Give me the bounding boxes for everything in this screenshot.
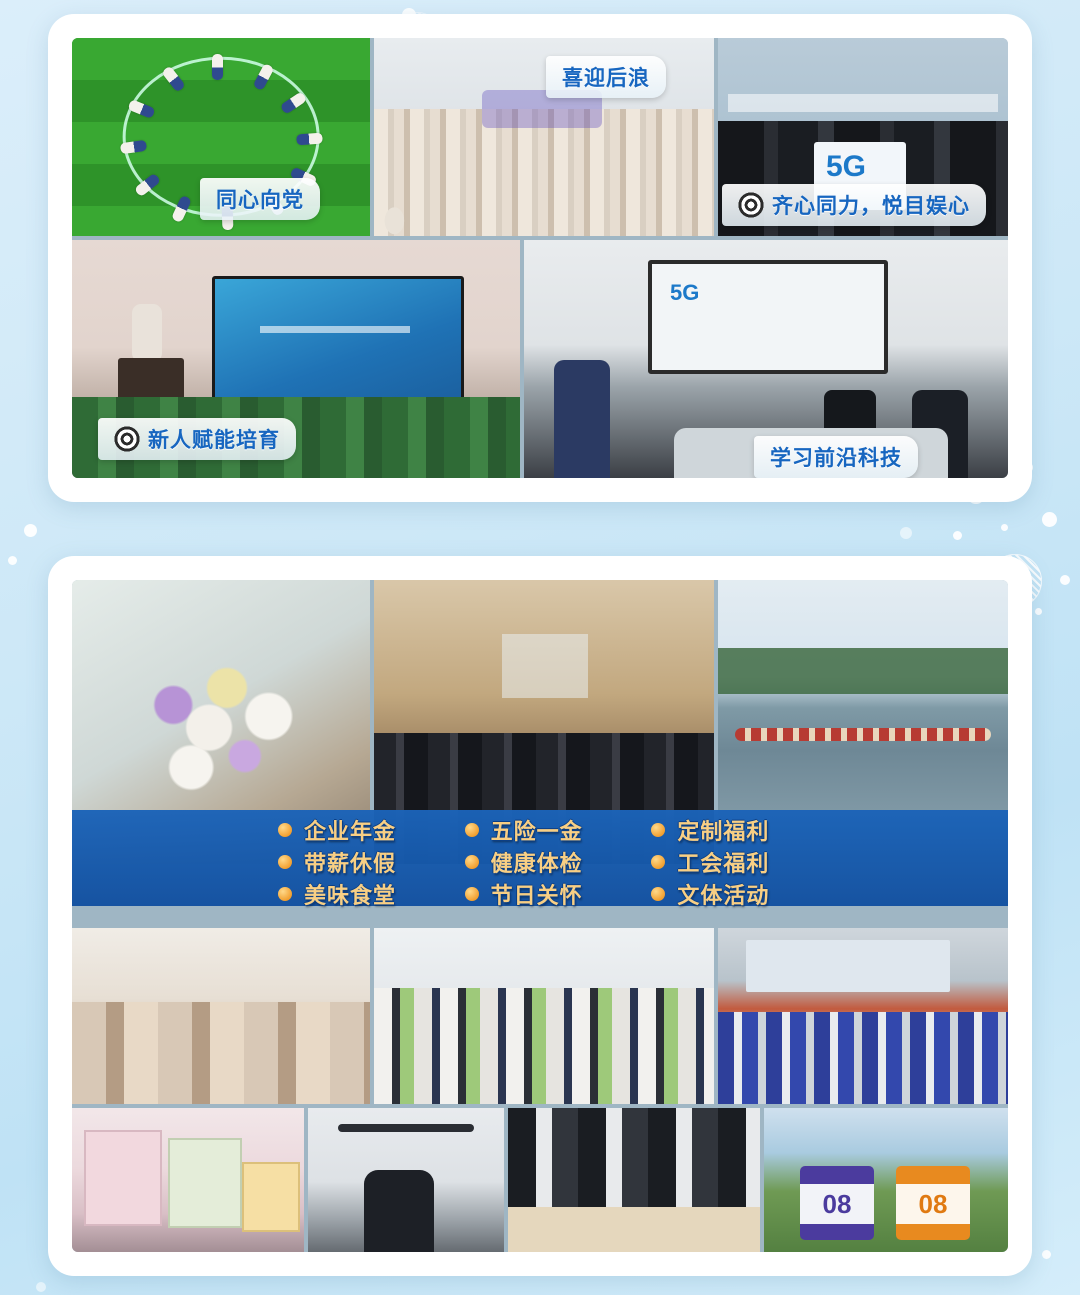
benefit-label: 健康体检 — [491, 846, 583, 878]
bullet-dot-icon — [465, 887, 479, 901]
decor-dot — [1042, 1250, 1051, 1259]
benefit-item[interactable]: 节日关怀 — [465, 878, 652, 910]
bullet-dot-icon — [651, 823, 665, 837]
decor-dot — [24, 524, 37, 537]
photo-party-formation[interactable]: 同心向党 — [72, 38, 370, 236]
bullet-dot-icon — [278, 823, 292, 837]
benefits-section-card: 08 08 — [48, 556, 1032, 1276]
caption-tech-study-meeting: 学习前沿科技 — [754, 436, 918, 478]
caption-new-employee-group: 喜迎后浪 — [546, 56, 666, 98]
photo-desk-calendar[interactable]: 08 08 — [764, 1108, 1008, 1252]
benefits-photo-grid: 08 08 — [72, 580, 1008, 1252]
photo-team-cheer[interactable]: 5G 齐心同力，悦目娱心 — [718, 38, 1008, 236]
caption-onboarding-training: 新人赋能培育 — [98, 418, 296, 460]
benefits-list: 企业年金 五险一金 定制福利 带薪休假 健康体检 工会福利 美味食堂 节日关怀 … — [278, 814, 838, 904]
benefit-item[interactable]: 五险一金 — [465, 814, 652, 846]
photo-gym-workout[interactable] — [308, 1108, 504, 1252]
photo-new-employee-group[interactable]: 喜迎后浪 — [374, 38, 714, 236]
dragon-boat — [735, 728, 990, 741]
decor-dot — [900, 527, 912, 539]
benefit-item[interactable]: 企业年金 — [278, 814, 465, 846]
benefit-label: 定制福利 — [677, 814, 769, 846]
caption-label: 学习前沿科技 — [770, 442, 902, 472]
benefit-label: 带薪休假 — [304, 846, 396, 878]
target-icon — [738, 192, 764, 218]
crowd-area — [374, 109, 714, 236]
benefit-label: 工会福利 — [677, 846, 769, 878]
bullet-dot-icon — [651, 887, 665, 901]
talent-section-title: 丰富完善的人才培养体系 — [196, 222, 900, 312]
photo-sports-team-photo[interactable] — [374, 928, 714, 1104]
bullet-dot-icon — [651, 855, 665, 869]
benefit-item[interactable]: 美味食堂 — [278, 878, 465, 910]
target-icon — [114, 426, 140, 452]
caption-label: 齐心同力，悦目娱心 — [772, 190, 970, 220]
photo-food-party[interactable] — [508, 1108, 760, 1252]
decor-dot — [953, 531, 962, 540]
photo-library-lounge[interactable] — [72, 928, 370, 1104]
benefit-item[interactable]: 定制福利 — [651, 814, 838, 846]
benefit-label: 美味食堂 — [304, 878, 396, 910]
caption-label: 新人赋能培育 — [148, 424, 280, 454]
decor-dot — [36, 1282, 46, 1292]
decor-dot — [1001, 524, 1008, 531]
caption-team-cheer: 齐心同力，悦目娱心 — [722, 184, 986, 226]
benefit-label: 节日关怀 — [491, 878, 583, 910]
benefit-label: 文体活动 — [677, 878, 769, 910]
caption-party-formation: 同心向党 — [200, 178, 320, 220]
caption-label: 喜迎后浪 — [562, 62, 650, 92]
benefit-item[interactable]: 工会福利 — [651, 846, 838, 878]
bullet-dot-icon — [465, 823, 479, 837]
bullet-dot-icon — [278, 855, 292, 869]
benefit-item[interactable]: 带薪休假 — [278, 846, 465, 878]
photo-holiday-gift-boxes[interactable] — [72, 1108, 304, 1252]
benefit-label: 五险一金 — [491, 814, 583, 846]
decor-dot — [1042, 512, 1057, 527]
decor-dot — [1035, 608, 1042, 615]
benefit-item[interactable]: 健康体检 — [465, 846, 652, 878]
benefit-label: 企业年金 — [304, 814, 396, 846]
caption-label: 同心向党 — [216, 184, 304, 214]
benefit-item[interactable]: 文体活动 — [651, 878, 838, 910]
bullet-dot-icon — [465, 855, 479, 869]
bullet-dot-icon — [278, 887, 292, 901]
decor-dot — [1060, 575, 1070, 585]
decor-dot — [8, 556, 17, 565]
photo-cheerleading-show[interactable] — [718, 928, 1008, 1104]
